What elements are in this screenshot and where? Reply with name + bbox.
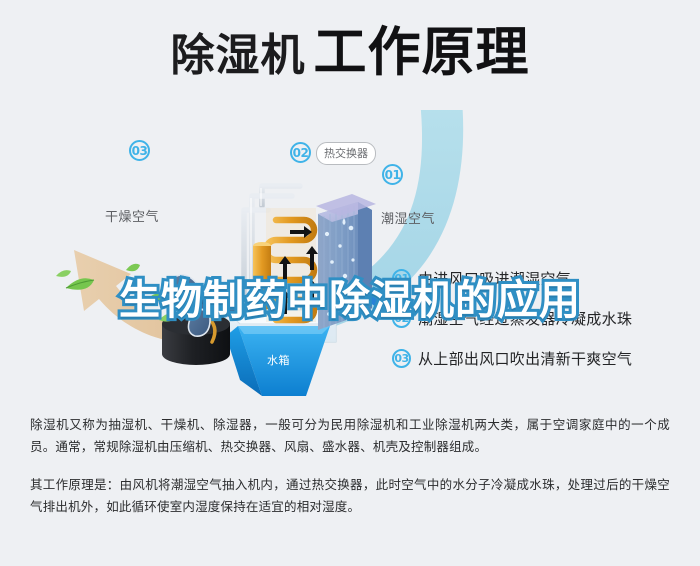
badge-01-humid-air: 01 xyxy=(382,164,403,185)
body-paragraph-1: 除湿机又称为抽湿机、干燥机、除湿器，一般可分为民用除湿机和工业除湿机两大类，属于… xyxy=(30,414,670,458)
overlay-headline: 生物制药中除湿机的应用 xyxy=(0,266,700,326)
label-humid-air: 潮湿空气 xyxy=(381,208,435,227)
badge-03-label: 03 xyxy=(132,144,148,158)
callout-heat-exchanger: 热交换器 xyxy=(316,142,376,165)
label-water-tank: 水箱 xyxy=(267,352,290,368)
badge-02-label: 02 xyxy=(293,146,309,160)
step-text-03: 从上部出风口吹出清新干爽空气 xyxy=(418,348,632,369)
page-root: 除湿机工作原理 xyxy=(0,0,700,566)
body-paragraph-2: 其工作原理是：由风机将潮湿空气抽入机内，通过热交换器，此时空气中的水分子冷凝成水… xyxy=(30,474,670,518)
step-number-03: 03 xyxy=(392,349,411,368)
label-dry-air: 干燥空气 xyxy=(105,206,159,225)
page-title: 除湿机工作原理 xyxy=(0,26,700,79)
badge-03-dry-air: 03 xyxy=(129,140,150,161)
step-item-03: 03 从上部出风口吹出清新干爽空气 xyxy=(392,338,692,378)
badge-01-label: 01 xyxy=(385,168,401,182)
page-title-part-2: 工作原理 xyxy=(314,22,530,83)
badge-02-heat-exchanger: 02 xyxy=(290,142,311,163)
page-title-part-1: 除湿机 xyxy=(171,30,306,81)
article-body: 除湿机又称为抽湿机、干燥机、除湿器，一般可分为民用除湿机和工业除湿机两大类，属于… xyxy=(0,414,700,518)
